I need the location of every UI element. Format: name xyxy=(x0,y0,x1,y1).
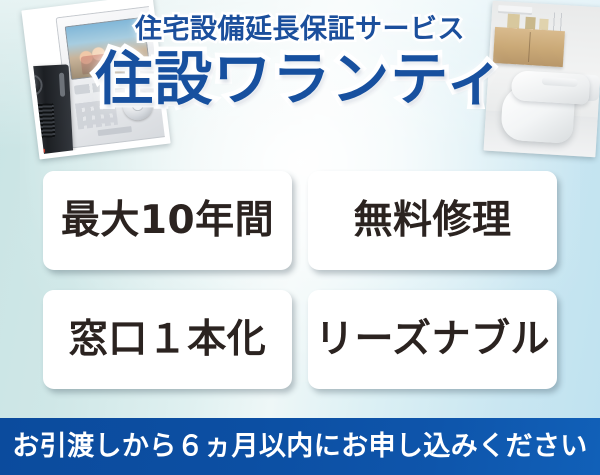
intercom-screen xyxy=(65,17,151,80)
intercom-label-strip xyxy=(97,126,131,136)
intercom-photo xyxy=(21,0,170,159)
station-side-strip xyxy=(59,73,65,97)
cta-text: お引渡しから６ヵ月以内にお申し込みください xyxy=(12,433,587,460)
intercom-keypad xyxy=(75,99,118,130)
intercom-monitor xyxy=(55,6,168,149)
cta-bar[interactable]: お引渡しから６ヵ月以内にお申し込みください xyxy=(0,418,600,475)
intercom-dial xyxy=(121,88,154,121)
warranty-banner: 住宅設備延長保証サービス 住設ワランティ 最大10年間 無料修理 窓口１本化 リ… xyxy=(0,0,600,475)
feature-label: 無料修理 xyxy=(353,201,511,240)
toilet-seat-lid xyxy=(511,70,591,105)
feature-label: 最大10年間 xyxy=(61,201,274,240)
feature-card-max-years[interactable]: 最大10年間 xyxy=(43,171,292,270)
feature-card-grid: 最大10年間 無料修理 窓口１本化 リーズナブル xyxy=(43,171,557,389)
feature-card-free-repair[interactable]: 無料修理 xyxy=(308,171,557,270)
wall-cabinet xyxy=(493,27,565,67)
feature-card-reasonable[interactable]: リーズナブル xyxy=(308,290,557,389)
feature-label: 窓口１本化 xyxy=(69,320,267,359)
feature-card-single-contact[interactable]: 窓口１本化 xyxy=(43,290,292,389)
toilet-photo xyxy=(484,1,600,158)
feature-label: リーズナブル xyxy=(315,320,550,359)
